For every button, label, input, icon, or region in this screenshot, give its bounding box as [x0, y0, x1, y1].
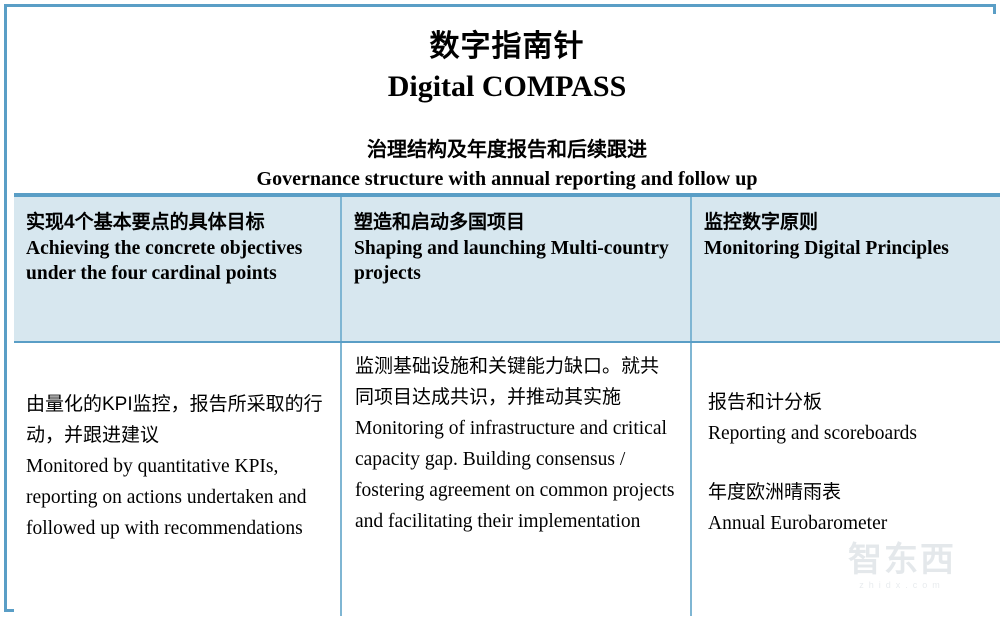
header-cell-multicountry: 塑造和启动多国项目 Shaping and launching Multi-co…: [342, 197, 692, 341]
slide-root: 数字指南针 Digital COMPASS 治理结构及年度报告和后续跟进 Gov…: [0, 0, 1000, 620]
title-heading-en: Digital COMPASS: [14, 66, 1000, 106]
body-cell-multicountry: 监测基础设施和关键能力缺口。就共同项目达成共识，并推动其实施 Monitorin…: [342, 343, 692, 616]
body-cell-principles-eurobarometer-en: Annual Eurobarometer: [708, 508, 986, 539]
body-cell-principles: 报告和计分板 Reporting and scoreboards 年度欧洲晴雨表…: [692, 343, 1000, 616]
header-cell-multicountry-en: Shaping and launching Multi-country proj…: [354, 236, 676, 286]
body-cell-multicountry-cn: 监测基础设施和关键能力缺口。就共同项目达成共识，并推动其实施: [355, 351, 676, 413]
header-cell-multicountry-cn: 塑造和启动多国项目: [354, 210, 676, 236]
title-block: 数字指南针 Digital COMPASS 治理结构及年度报告和后续跟进 Gov…: [14, 14, 1000, 195]
header-cell-principles-cn: 监控数字原则: [704, 210, 986, 236]
table-header-row: 实现4个基本要点的具体目标 Achieving the concrete obj…: [14, 197, 1000, 341]
header-cell-objectives: 实现4个基本要点的具体目标 Achieving the concrete obj…: [14, 197, 342, 341]
body-cell-principles-spacer: [708, 449, 986, 477]
body-cell-objectives-en: Monitored by quantitative KPIs, reportin…: [26, 451, 326, 544]
title-subtitle-en: Governance structure with annual reporti…: [14, 164, 1000, 193]
governance-table: 实现4个基本要点的具体目标 Achieving the concrete obj…: [14, 197, 1000, 616]
body-cell-objectives: 由量化的KPI监控，报告所采取的行动，并跟进建议 Monitored by qu…: [14, 343, 342, 616]
table-body-row: 由量化的KPI监控，报告所采取的行动，并跟进建议 Monitored by qu…: [14, 341, 1000, 616]
body-cell-objectives-cn: 由量化的KPI监控，报告所采取的行动，并跟进建议: [26, 389, 326, 451]
header-cell-principles: 监控数字原则 Monitoring Digital Principles: [692, 197, 1000, 341]
header-cell-objectives-cn: 实现4个基本要点的具体目标: [26, 210, 326, 236]
header-cell-objectives-en: Achieving the concrete objectives under …: [26, 236, 326, 286]
header-cell-principles-en: Monitoring Digital Principles: [704, 236, 986, 261]
body-cell-principles-eurobarometer-cn: 年度欧洲晴雨表: [708, 477, 986, 508]
title-subtitle-cn: 治理结构及年度报告和后续跟进: [14, 106, 1000, 164]
body-cell-principles-reporting-cn: 报告和计分板: [708, 387, 986, 418]
body-cell-principles-reporting-en: Reporting and scoreboards: [708, 418, 986, 449]
body-cell-multicountry-en: Monitoring of infrastructure and critica…: [355, 413, 676, 537]
title-heading-cn: 数字指南针: [14, 14, 1000, 66]
slide-frame: 数字指南针 Digital COMPASS 治理结构及年度报告和后续跟进 Gov…: [4, 4, 996, 612]
